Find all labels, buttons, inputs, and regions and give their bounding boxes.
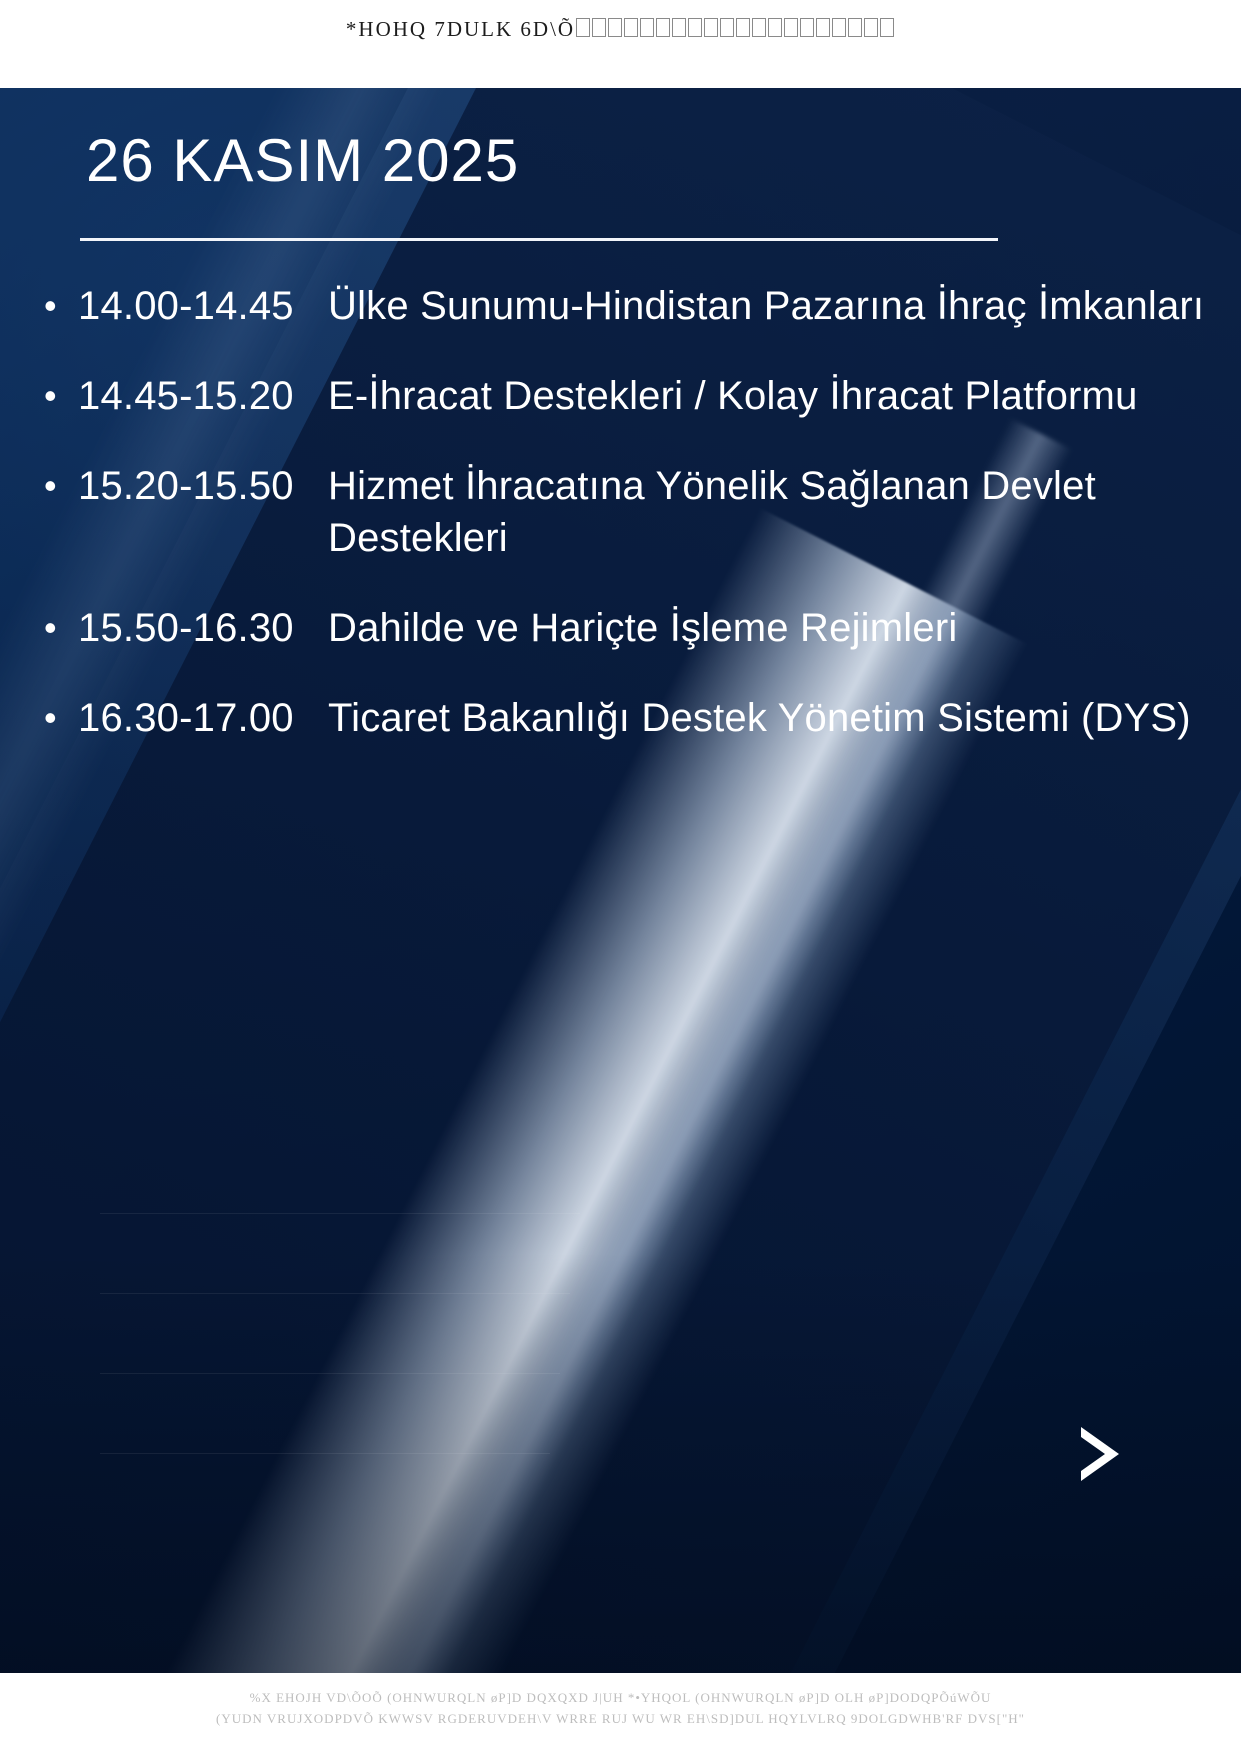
- slide-title: 26 KASIM 2025: [86, 126, 519, 195]
- bullet-icon: •: [40, 280, 78, 332]
- missing-glyph-box: [592, 18, 606, 37]
- agenda-item: • 16.30-17.00 Ticaret Bakanlığı Destek Y…: [0, 692, 1241, 744]
- missing-glyph-box: [816, 18, 830, 37]
- background-rule: [100, 1453, 550, 1454]
- title-underline-rule: [80, 238, 998, 241]
- missing-glyph-box: [800, 18, 814, 37]
- missing-glyph-box: [832, 18, 846, 37]
- agenda-item-title: Dahilde ve Hariçte İşleme Rejimleri: [328, 602, 1241, 654]
- missing-glyph-box: [848, 18, 862, 37]
- agenda-item: • 15.20-15.50 Hizmet İhracatına Yönelik …: [0, 460, 1241, 564]
- missing-glyph-box: [624, 18, 638, 37]
- slide-canvas: 26 KASIM 2025 • 14.00-14.45 Ülke Sunumu-…: [0, 88, 1241, 1673]
- missing-glyph-box: [784, 18, 798, 37]
- missing-glyph-box: [608, 18, 622, 37]
- missing-glyph-box: [688, 18, 702, 37]
- agenda-item-time: 15.20-15.50: [78, 460, 328, 512]
- play-arrow-icon: [1077, 1425, 1123, 1488]
- missing-glyph-box: [768, 18, 782, 37]
- agenda-list: • 14.00-14.45 Ülke Sunumu-Hindistan Paza…: [0, 280, 1241, 782]
- missing-glyph-box: [576, 18, 590, 37]
- agenda-item-title: Hizmet İhracatına Yönelik Sağlanan Devle…: [328, 460, 1241, 564]
- footer-line-1: %X EHOJH VD\ÕOÕ (OHNWURQLN øP]D DQXQXD J…: [18, 1687, 1223, 1708]
- background-rule: [100, 1373, 560, 1374]
- agenda-item-time: 15.50-16.30: [78, 602, 328, 654]
- agenda-item-title: Ülke Sunumu-Hindistan Pazarına İhraç İmk…: [328, 280, 1241, 332]
- document-footer-band: %X EHOJH VD\ÕOÕ (OHNWURQLN øP]D DQXQXD J…: [0, 1673, 1241, 1755]
- missing-glyph-box: [864, 18, 878, 37]
- footer-line-2: (YUDN VRUJXODPDVÕ KWWSV RGDERUVDEH\V WRR…: [18, 1708, 1223, 1729]
- missing-glyph-box: [880, 18, 894, 37]
- bullet-icon: •: [40, 602, 78, 654]
- agenda-item: • 14.45-15.20 E-İhracat Destekleri / Kol…: [0, 370, 1241, 422]
- background-rule: [100, 1293, 570, 1294]
- agenda-item: • 14.00-14.45 Ülke Sunumu-Hindistan Paza…: [0, 280, 1241, 332]
- bullet-icon: •: [40, 692, 78, 744]
- agenda-item-time: 14.00-14.45: [78, 280, 328, 332]
- bullet-icon: •: [40, 370, 78, 422]
- missing-glyph-box: [704, 18, 718, 37]
- background-bottom-shade: [0, 1253, 1241, 1673]
- header-raw-text: *HOHQ 7DULK 6D\Õ: [346, 17, 575, 41]
- agenda-item-time: 16.30-17.00: [78, 692, 328, 744]
- missing-glyph-box: [640, 18, 654, 37]
- document-header-band: *HOHQ 7DULK 6D\Õ: [0, 0, 1241, 88]
- agenda-item: • 15.50-16.30 Dahilde ve Hariçte İşleme …: [0, 602, 1241, 654]
- agenda-item-title: E-İhracat Destekleri / Kolay İhracat Pla…: [328, 370, 1241, 422]
- missing-glyph-box: [752, 18, 766, 37]
- missing-glyph-box: [672, 18, 686, 37]
- missing-glyph-box: [720, 18, 734, 37]
- agenda-item-title: Ticaret Bakanlığı Destek Yönetim Sistemi…: [328, 692, 1241, 744]
- background-rule: [100, 1213, 580, 1214]
- missing-glyph-box: [736, 18, 750, 37]
- document-header-text: *HOHQ 7DULK 6D\Õ: [346, 17, 895, 42]
- bullet-icon: •: [40, 460, 78, 512]
- missing-glyph-box: [656, 18, 670, 37]
- agenda-item-time: 14.45-15.20: [78, 370, 328, 422]
